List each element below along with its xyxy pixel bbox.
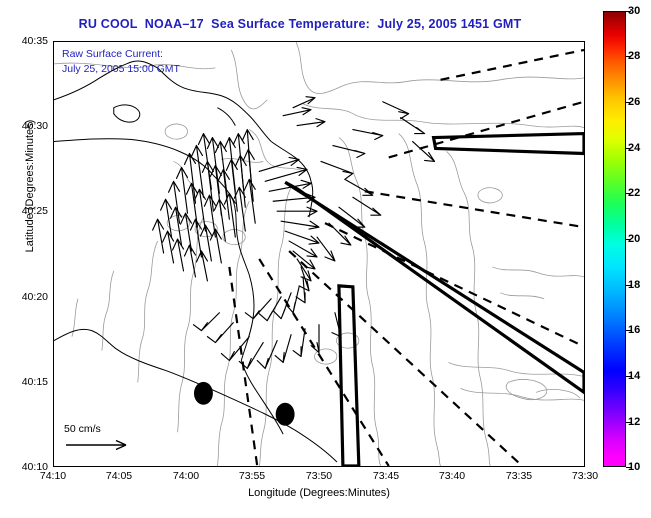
- cb-tick-4: 22: [628, 187, 640, 199]
- annotation-line-2: July 25, 2005 15:00 GMT: [62, 63, 180, 75]
- cb-tick-9: 12: [628, 416, 640, 428]
- cb-tick-0: 30: [628, 5, 640, 17]
- annotation-line-1: Raw Surface Current:: [62, 48, 163, 60]
- map-plot-area: Raw Surface Current:July 25, 2005 15:00 …: [53, 41, 585, 467]
- x-tick-7: 73:35: [506, 470, 532, 482]
- scale-bar-label: 50 cm/s: [64, 423, 160, 435]
- x-tick-8: 73:30: [572, 470, 598, 482]
- cb-tick-2: 26: [628, 96, 640, 108]
- sst-contours: [54, 42, 584, 466]
- cb-tick-7: 16: [628, 324, 640, 336]
- cb-tick-5: 20: [628, 233, 640, 245]
- scale-bar: 50 cm/s: [64, 423, 160, 452]
- figure-title: RU COOL NOAA–17 Sea Surface Temperature:…: [0, 17, 600, 31]
- cb-tick-3: 24: [628, 142, 640, 154]
- x-tick-3: 73:55: [239, 470, 265, 482]
- cb-tick-10: 10: [628, 461, 640, 473]
- x-tick-4: 73:50: [306, 470, 332, 482]
- radar-beam-wedges: [285, 134, 584, 466]
- x-tick-5: 73:45: [373, 470, 399, 482]
- map-canvas: [54, 42, 584, 466]
- x-tick-1: 74:05: [106, 470, 132, 482]
- sst-map-figure: RU COOL NOAA–17 Sea Surface Temperature:…: [0, 0, 651, 518]
- x-tick-6: 73:40: [439, 470, 465, 482]
- current-annotation: Raw Surface Current:July 25, 2005 15:00 …: [62, 47, 180, 77]
- x-tick-2: 74:00: [173, 470, 199, 482]
- temperature-colorbar: [603, 11, 626, 467]
- x-axis-label: Longitude (Degrees:Minutes): [53, 487, 585, 499]
- y-axis-label: Latitude (Degrees:Minutes): [24, 66, 36, 306]
- cb-tick-1: 28: [628, 50, 640, 62]
- surface-current-vectors: [153, 97, 435, 369]
- cb-tick-8: 14: [628, 370, 640, 382]
- cb-tick-6: 18: [628, 279, 640, 291]
- scale-bar-arrow-icon: [64, 438, 134, 452]
